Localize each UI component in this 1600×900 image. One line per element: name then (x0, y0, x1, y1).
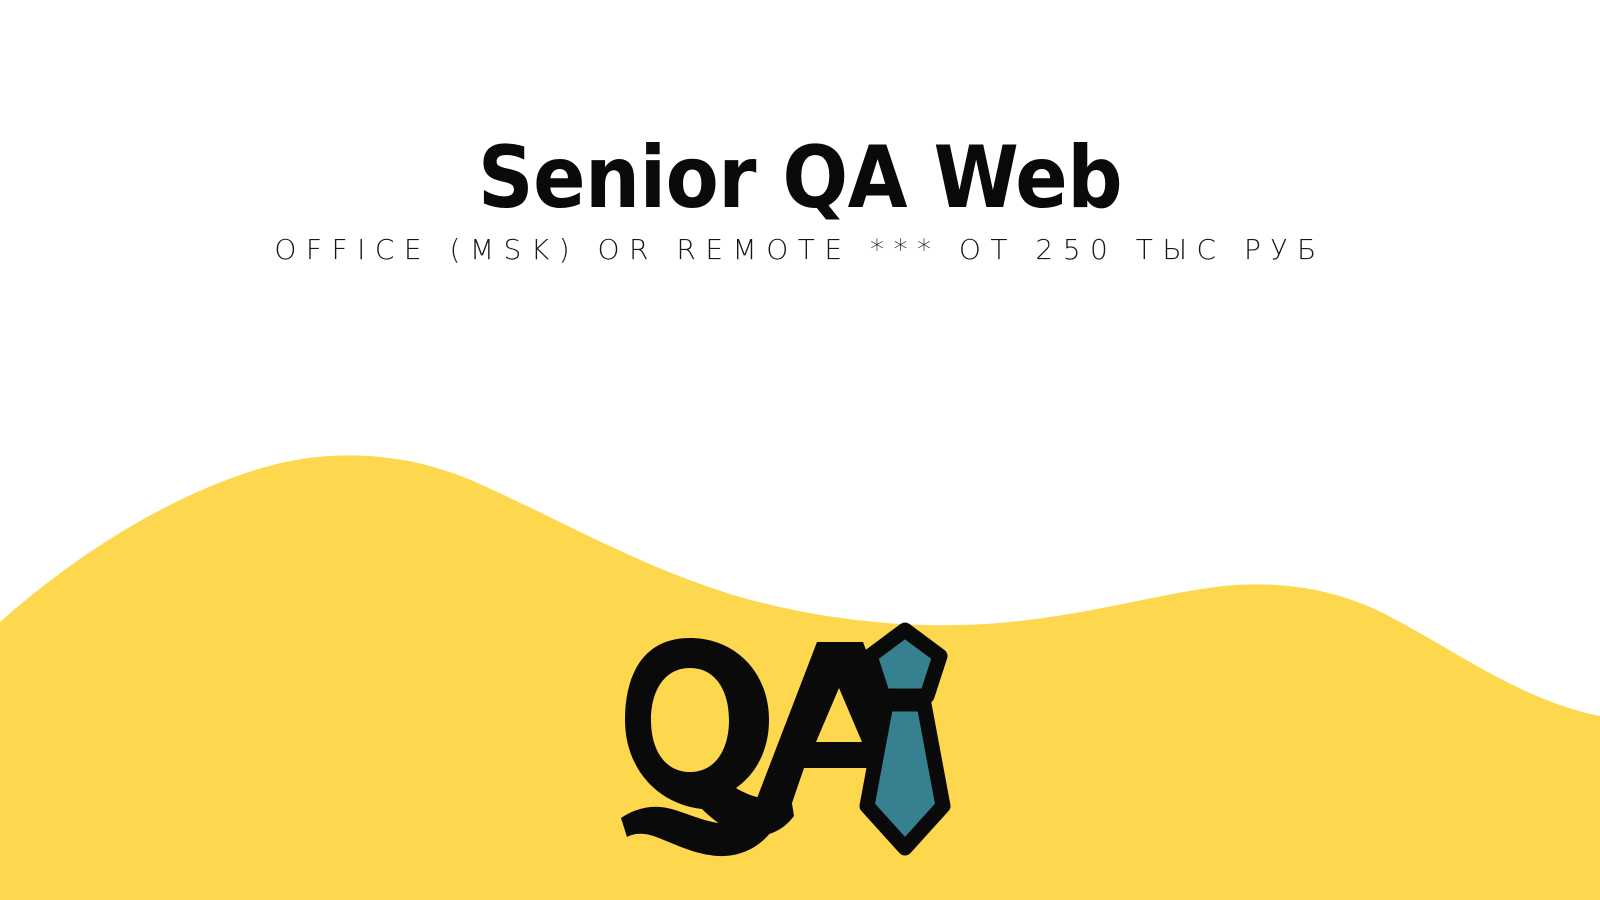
page-subtitle: OFFICE (MSK) OR REMOTE *** ОТ 250 ТЫС РУ… (0, 233, 1600, 267)
poster-canvas: Senior QA Web OFFICE (MSK) OR REMOTE ***… (0, 0, 1600, 900)
necktie-knot-icon (870, 630, 940, 696)
page-title: Senior QA Web (0, 132, 1600, 225)
necktie-blade-icon (867, 704, 943, 848)
qa-logo-svg (595, 620, 995, 860)
qa-logo-lockup (595, 620, 995, 860)
logo-letter-q-icon (621, 638, 794, 856)
necktie-icon (867, 630, 943, 848)
